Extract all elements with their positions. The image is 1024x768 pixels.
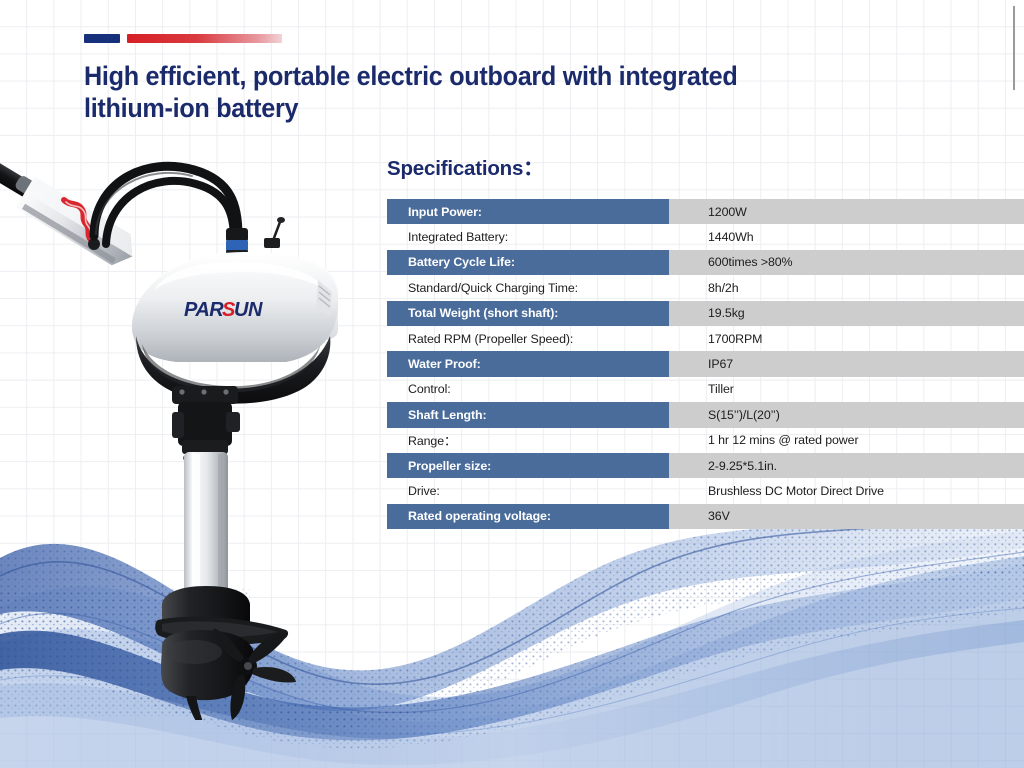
spec-label: Rated RPM (Propeller Speed):: [387, 326, 669, 351]
spec-label: Rated operating voltage:: [387, 504, 669, 529]
spec-value: 2-9.25*5.1in.: [669, 453, 1024, 478]
spec-label: Battery Cycle Life:: [387, 250, 669, 275]
table-row: Control: Tiller: [387, 377, 1024, 402]
spec-value: 19.5kg: [669, 301, 1024, 326]
table-row: Range： 1 hr 12 mins @ rated power: [387, 428, 1024, 453]
spec-label: Drive:: [387, 478, 669, 503]
spec-value: 1200W: [669, 199, 1024, 224]
spec-value: 1440Wh: [669, 224, 1024, 249]
accent-bar-blue: [84, 34, 120, 43]
table-row: Rated operating voltage: 36V: [387, 504, 1024, 529]
spec-label: Standard/Quick Charging Time:: [387, 275, 669, 300]
table-row: Water Proof: IP67: [387, 351, 1024, 376]
spec-label: Input Power:: [387, 199, 669, 224]
table-row: Input Power: 1200W: [387, 199, 1024, 224]
table-row: Drive: Brushless DC Motor Direct Drive: [387, 478, 1024, 503]
spec-label: Range：: [387, 428, 669, 453]
product-spec-page: PAR S UN: [0, 0, 1024, 768]
table-row: Battery Cycle Life: 600times >80%: [387, 250, 1024, 275]
table-row: Shaft Length: S(15’’)/L(20’’): [387, 402, 1024, 427]
spec-label: Total Weight (short shaft):: [387, 301, 669, 326]
accent-bar-red: [127, 34, 282, 43]
spec-label: Shaft Length:: [387, 402, 669, 427]
spec-value: 1700RPM: [669, 326, 1024, 351]
specifications-table: Input Power: 1200W Integrated Battery: 1…: [387, 199, 1024, 529]
spec-value: 600times >80%: [669, 250, 1024, 275]
spec-value: Tiller: [669, 377, 1024, 402]
page-title-line-1: High efficient, portable electric outboa…: [84, 60, 768, 92]
spec-value: 36V: [669, 504, 1024, 529]
table-row: Integrated Battery: 1440Wh: [387, 224, 1024, 249]
spec-value: Brushless DC Motor Direct Drive: [669, 478, 1024, 503]
table-row: Total Weight (short shaft): 19.5kg: [387, 301, 1024, 326]
specifications-table-body: Input Power: 1200W Integrated Battery: 1…: [387, 199, 1024, 529]
accent-bars: [84, 34, 282, 43]
spec-label: Integrated Battery:: [387, 224, 669, 249]
specifications-heading: Specifications：: [387, 151, 544, 181]
table-row: Standard/Quick Charging Time: 8h/2h: [387, 275, 1024, 300]
page-title-line-2: lithium-ion battery: [84, 92, 768, 124]
page-edge-artifact: [1013, 6, 1015, 90]
spec-label: Water Proof:: [387, 351, 669, 376]
spec-label: Propeller size:: [387, 453, 669, 478]
table-row: Propeller size: 2-9.25*5.1in.: [387, 453, 1024, 478]
spec-value: S(15’’)/L(20’’): [669, 402, 1024, 427]
table-row: Rated RPM (Propeller Speed): 1700RPM: [387, 326, 1024, 351]
page-title: High efficient, portable electric outboa…: [84, 60, 768, 124]
spec-value: 8h/2h: [669, 275, 1024, 300]
spec-value: 1 hr 12 mins @ rated power: [669, 428, 1024, 453]
spec-value: IP67: [669, 351, 1024, 376]
spec-label: Control:: [387, 377, 669, 402]
